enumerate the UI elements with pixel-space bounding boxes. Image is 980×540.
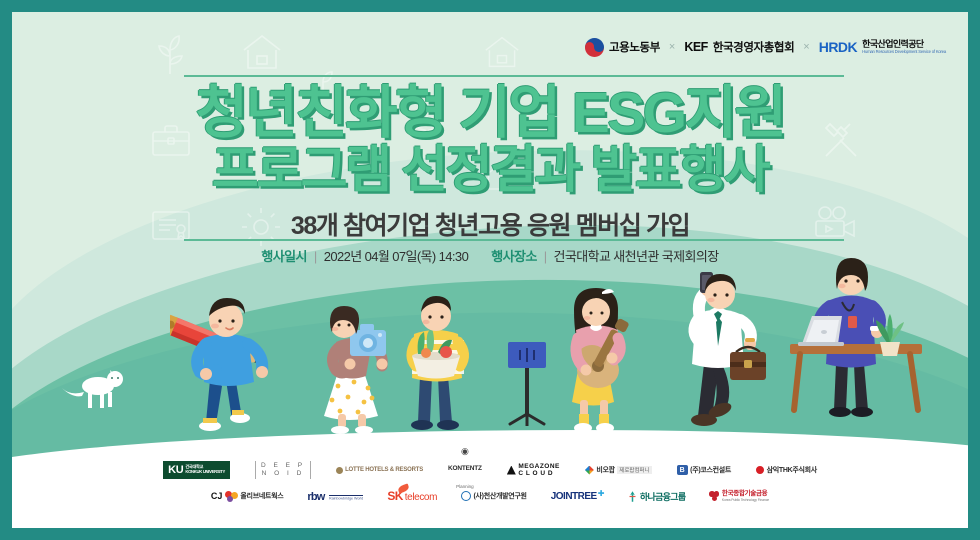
sponsor-logo-section: KU 건국대학교 KONKUK UNIVERSITY D E E P N O I… — [12, 460, 968, 506]
sponsor-logo-row-2: CJ 올리브네트웍스 rbw Rainbowbridge World — [211, 486, 769, 506]
hana-bird-icon — [628, 491, 637, 502]
poster-root: 고용노동부 × KEF 한국경영자총협회 × HRDK 한국산업인력공단 Hum… — [0, 0, 980, 540]
megazone-line2: C L O U D — [518, 470, 560, 477]
cj-blossom-icon — [225, 491, 238, 502]
poster-frame: 고용노동부 × KEF 한국경영자총협회 × HRDK 한국산업인력공단 Hum… — [12, 12, 968, 528]
sponsor-logo-cheonsan: (사)천산개발연구원 — [461, 486, 527, 506]
cosconsult-mark-icon: B — [677, 465, 688, 475]
sponsor-logo-cosconsult: B (주)코스컨설트 — [677, 460, 731, 480]
sponsor-logo-kontentz: ◉ KONTENTZ Planning — [448, 460, 482, 480]
biopop-sub: 제로팝컴퍼니 — [617, 466, 651, 474]
sponsor-logo-rbw: rbw Rainbowbridge World — [307, 486, 363, 506]
cj-abbr: CJ — [211, 491, 223, 501]
lotte-name: LOTTE HOTELS & RESORTS — [345, 467, 423, 473]
woman-desk-illustration — [784, 244, 934, 422]
rbw-name: rbw — [307, 491, 324, 503]
music-stand-illustration — [500, 340, 554, 426]
jointree-name: JOINTREE — [551, 491, 597, 502]
deepnoid-line1: D E E P — [261, 462, 305, 469]
sponsor-logo-deepnoid: D E E P N O I D — [255, 460, 311, 480]
cj-name: 올리브네트웍스 — [240, 491, 283, 501]
deepnoid-line2: N O I D — [262, 470, 305, 477]
kontentz-mark-icon: ◉ — [448, 447, 482, 457]
man-basket-illustration — [390, 290, 490, 436]
sk-name: telecom — [405, 492, 437, 503]
megazone-mark-icon — [507, 466, 516, 475]
woman-guitar-illustration — [550, 284, 654, 436]
cheonsan-mark-icon — [461, 491, 471, 501]
sponsor-logo-lotte: LOTTE HOTELS & RESORTS — [336, 460, 423, 480]
cat-illustration — [60, 364, 130, 412]
rbw-sub: Rainbowbridge World — [329, 495, 363, 501]
ktfc-name: 한국종합기술금융 — [722, 490, 769, 497]
jointree-plus-icon: ✚ — [598, 491, 605, 497]
sponsor-logo-sktelecom: SK telecom — [387, 486, 437, 506]
kontentz-name: KONTENTZ — [448, 465, 482, 472]
sponsor-logo-jointree: JOINTREE ✚ — [551, 486, 605, 506]
sponsor-logo-row-1: KU 건국대학교 KONKUK UNIVERSITY D E E P N O I… — [163, 460, 817, 480]
sponsor-logo-biopop: 비오팝 제로팝컴퍼니 — [585, 460, 652, 480]
sponsor-logo-ktfc: 한국종합기술금융 Korea Public Technology Finance — [709, 486, 769, 506]
megazone-line1: MEGAZONE — [518, 463, 560, 470]
man-pencil-illustration — [170, 294, 290, 436]
man-phone-illustration — [670, 270, 780, 436]
biopop-mark-icon — [585, 466, 594, 475]
ktfc-mark-icon — [709, 491, 719, 501]
sponsor-logo-ku: KU 건국대학교 KONKUK UNIVERSITY — [163, 460, 230, 480]
ku-sub: KONKUK UNIVERSITY — [185, 470, 225, 475]
lotte-mark-icon — [336, 467, 343, 474]
sponsor-logo-samick: 삼익THK주식회사 — [756, 460, 817, 480]
ku-abbr: KU — [168, 464, 183, 476]
samick-name: 삼익THK주식회사 — [767, 465, 817, 475]
sponsor-logo-hana: 하나금융그룹 — [628, 486, 685, 506]
cosconsult-name: (주)코스컨설트 — [690, 465, 731, 475]
samick-mark-icon — [756, 466, 764, 474]
ktfc-sub: Korea Public Technology Finance — [722, 498, 769, 502]
sponsor-logo-cj-olivenetworks: CJ 올리브네트웍스 — [211, 486, 284, 506]
cheonsan-name: (사)천산개발연구원 — [474, 491, 527, 501]
hana-name: 하나금융그룹 — [640, 490, 685, 503]
biopop-name: 비오팝 — [596, 465, 614, 475]
sponsor-logo-megazone: MEGAZONE C L O U D — [507, 460, 560, 480]
